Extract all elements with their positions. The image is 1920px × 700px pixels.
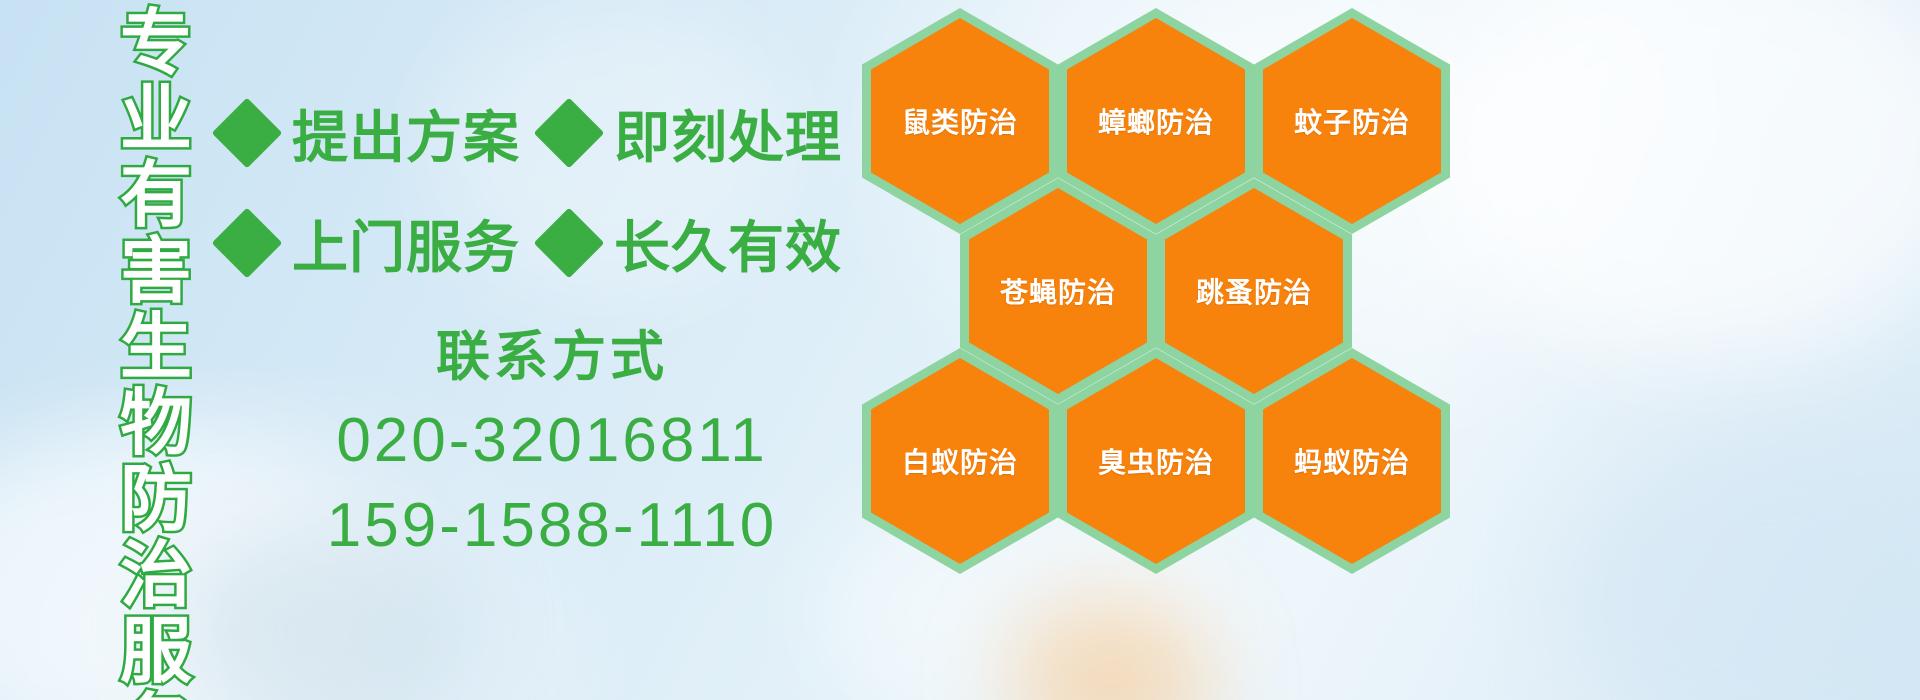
feature-row: 上门服务 长久有效 bbox=[222, 188, 882, 298]
service-honeycomb: 鼠类防治 蟑螂防治 蚊子防治 苍蝇防治 跳蚤防治 白蚁防治 bbox=[862, 8, 1462, 554]
feature-label: 上门服务 bbox=[292, 203, 520, 284]
feature-row: 提出方案 即刻处理 bbox=[222, 78, 882, 188]
feature-label: 提出方案 bbox=[292, 93, 520, 174]
service-label: 跳蚤防治 bbox=[1196, 271, 1312, 311]
vertical-headline-char: 防 bbox=[120, 462, 192, 538]
vertical-headline-char: 务 bbox=[120, 690, 192, 700]
feature-list: 提出方案 即刻处理 上门服务 长久有效 bbox=[222, 78, 882, 298]
hex-inner: 苍蝇防治 bbox=[969, 188, 1147, 394]
banner-canvas: 专 业 有 害 生 物 防 治 服 务 提出方案 即刻处理 上门服务 长久有效 … bbox=[0, 0, 1920, 700]
diamond-icon bbox=[212, 208, 283, 279]
vertical-headline-char: 有 bbox=[120, 158, 192, 234]
vertical-headline-char: 治 bbox=[120, 538, 192, 614]
vertical-headline-char: 物 bbox=[120, 386, 192, 462]
feature-label: 即刻处理 bbox=[614, 93, 842, 174]
background-blob bbox=[1010, 600, 1210, 700]
service-label: 臭虫防治 bbox=[1098, 441, 1214, 481]
hex-inner: 白蚁防治 bbox=[871, 358, 1049, 564]
hex-inner: 蟑螂防治 bbox=[1067, 18, 1245, 224]
service-label: 蚊子防治 bbox=[1294, 101, 1410, 141]
service-label: 白蚁防治 bbox=[902, 441, 1018, 481]
hex-inner: 蚊子防治 bbox=[1263, 18, 1441, 224]
service-label: 蟑螂防治 bbox=[1098, 101, 1214, 141]
hex-inner: 蚂蚁防治 bbox=[1263, 358, 1441, 564]
diamond-icon bbox=[534, 98, 605, 169]
hex-inner: 鼠类防治 bbox=[871, 18, 1049, 224]
vertical-headline-char: 服 bbox=[120, 614, 192, 690]
feature-label: 长久有效 bbox=[614, 203, 842, 284]
diamond-icon bbox=[534, 208, 605, 279]
hex-inner: 臭虫防治 bbox=[1067, 358, 1245, 564]
background-blob bbox=[1430, 0, 1920, 360]
service-label: 蚂蚁防治 bbox=[1294, 441, 1410, 481]
vertical-headline-char: 业 bbox=[120, 82, 192, 158]
service-label: 苍蝇防治 bbox=[1000, 271, 1116, 311]
hex-inner: 跳蚤防治 bbox=[1165, 188, 1343, 394]
service-label: 鼠类防治 bbox=[902, 101, 1018, 141]
contact-block: 联系方式 020-32016811 159-1588-1110 bbox=[222, 312, 882, 561]
diamond-icon bbox=[212, 98, 283, 169]
vertical-headline-char: 专 bbox=[120, 6, 192, 82]
contact-title: 联系方式 bbox=[222, 312, 882, 391]
phone-number-primary[interactable]: 020-32016811 bbox=[222, 405, 882, 476]
vertical-headline-char: 害 bbox=[120, 234, 192, 310]
vertical-headline-char: 生 bbox=[120, 310, 192, 386]
vertical-headline: 专 业 有 害 生 物 防 治 服 务 bbox=[96, 6, 216, 696]
background-blob bbox=[1560, 430, 1920, 700]
phone-number-secondary[interactable]: 159-1588-1110 bbox=[222, 490, 882, 561]
